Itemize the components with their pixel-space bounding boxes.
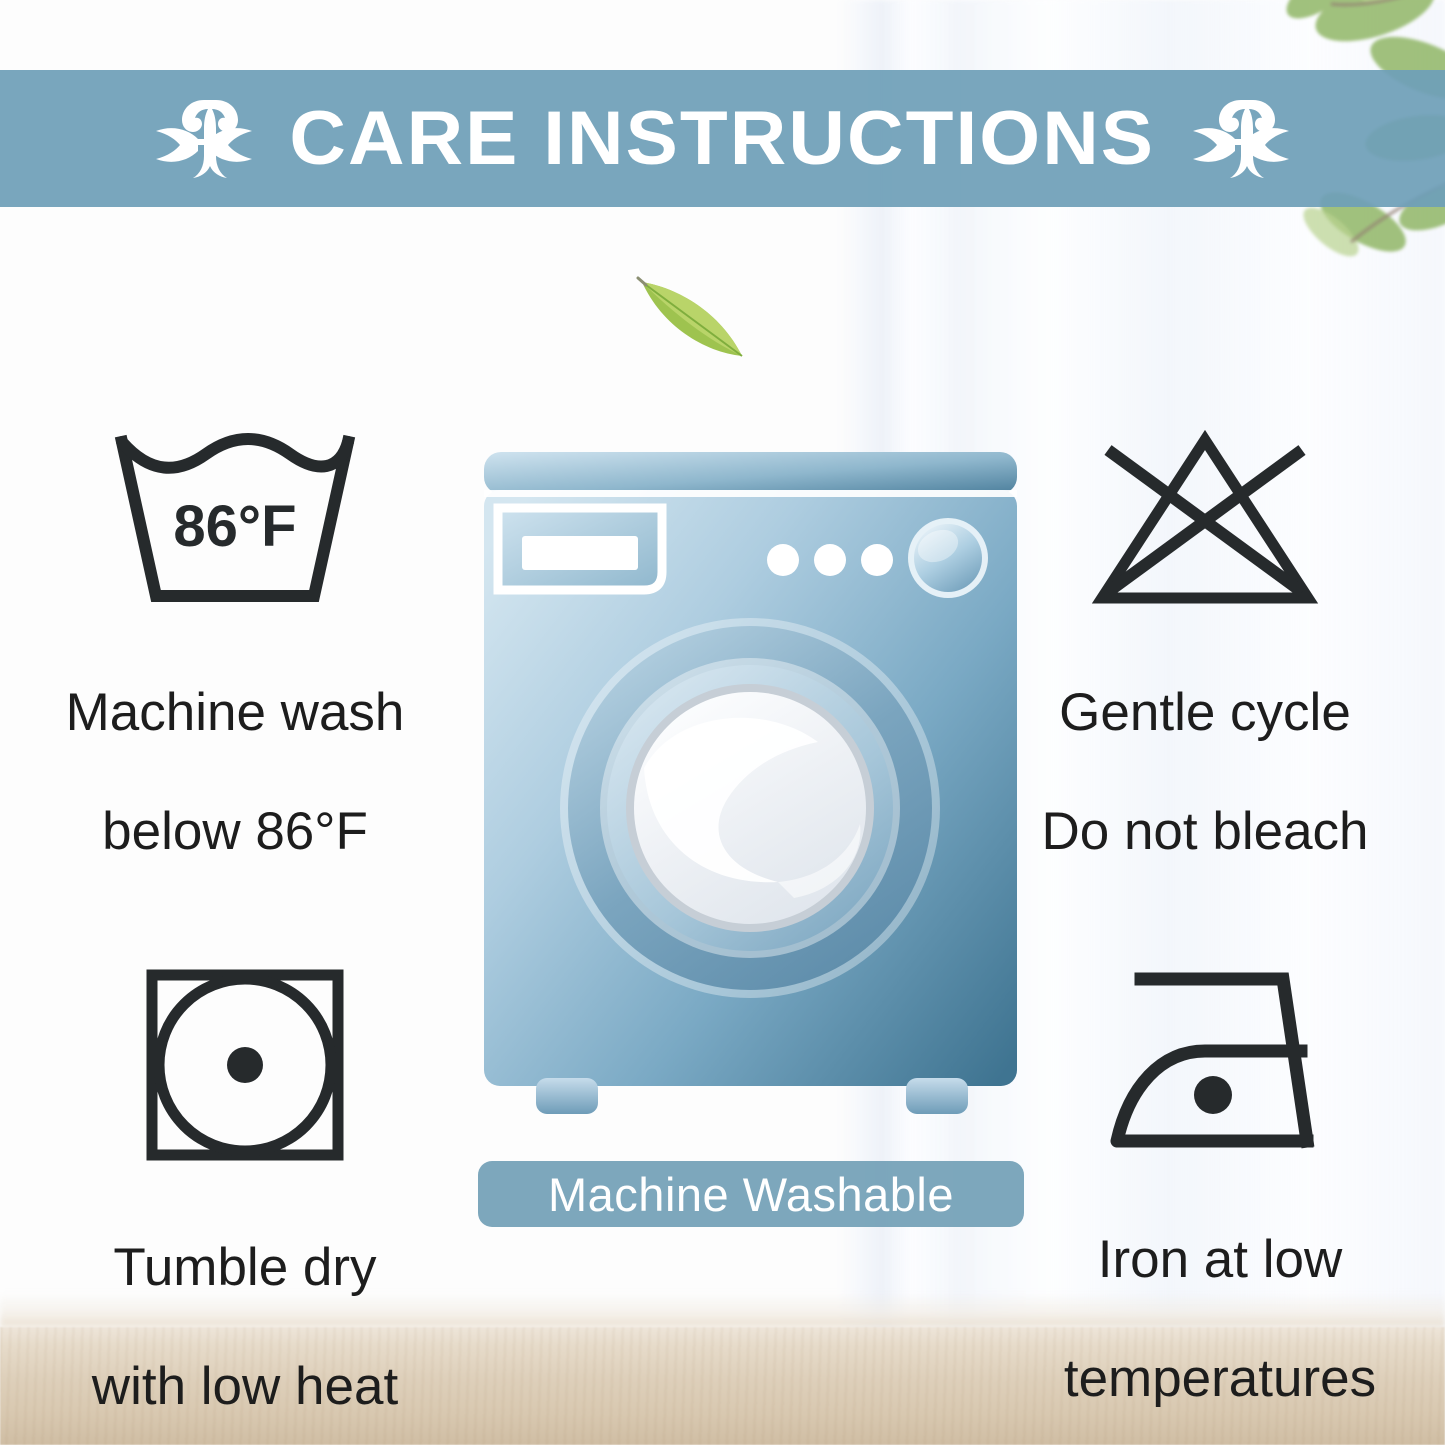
care-label-iron: Iron at low temperatures <box>1064 1171 1376 1408</box>
washer-door[interactable] <box>560 618 940 998</box>
leaf-icon <box>634 268 754 364</box>
care-label-do-not-bleach: Gentle cycle Do not bleach <box>1041 624 1368 861</box>
indicator-light <box>767 544 799 576</box>
care-label-line-2: Do not bleach <box>1041 802 1368 861</box>
status-badge-machine-washable: Machine Washable <box>478 1161 1024 1227</box>
status-badge-label: Machine Washable <box>548 1171 954 1218</box>
do-not-bleach-triangle-icon <box>1080 428 1330 610</box>
fleur-de-lis-icon <box>140 90 268 188</box>
washer-foot-right <box>906 1078 968 1114</box>
care-item-iron: Iron at low temperatures <box>1020 965 1420 1408</box>
washer-lid-seam <box>484 490 1017 497</box>
care-label-tumble-dry: Tumble dry with low heat <box>92 1179 398 1416</box>
header-banner: CARE INSTRUCTIONS <box>0 70 1445 207</box>
care-label-line-1: Gentle cycle <box>1059 683 1351 742</box>
care-item-machine-wash: 86°F Machine wash below 86°F <box>35 428 435 861</box>
indicator-lights <box>767 544 893 576</box>
page-title: CARE INSTRUCTIONS <box>290 101 1156 177</box>
washer-top-lid <box>484 452 1017 494</box>
care-instructions-infographic: CARE INSTRUCTIONS 86°F Machine wash belo… <box>0 0 1445 1445</box>
drawer-handle-slot <box>522 536 638 570</box>
tumble-dry-low-icon <box>140 965 350 1165</box>
wash-temperature-value: 86°F <box>173 494 296 559</box>
care-label-line-1: Machine wash <box>66 683 405 742</box>
iron-low-temperature-icon <box>1095 965 1345 1157</box>
wash-tub-icon: 86°F <box>110 428 360 610</box>
care-label-line-1: Iron at low <box>1098 1230 1343 1289</box>
indicator-light <box>814 544 846 576</box>
care-label-line-2: with low heat <box>92 1357 398 1416</box>
care-label-machine-wash: Machine wash below 86°F <box>66 624 405 861</box>
indicator-light <box>861 544 893 576</box>
washer-foot-left <box>536 1078 598 1114</box>
care-label-line-2: temperatures <box>1064 1349 1376 1408</box>
detergent-drawer[interactable] <box>498 508 662 590</box>
care-label-line-1: Tumble dry <box>113 1238 376 1297</box>
care-item-do-not-bleach: Gentle cycle Do not bleach <box>1005 428 1405 861</box>
care-label-line-2: below 86°F <box>102 802 368 861</box>
fleur-de-lis-icon <box>1177 90 1305 188</box>
care-item-tumble-dry: Tumble dry with low heat <box>45 965 445 1416</box>
washing-machine-illustration <box>478 450 1023 1130</box>
control-dial[interactable] <box>908 518 988 598</box>
